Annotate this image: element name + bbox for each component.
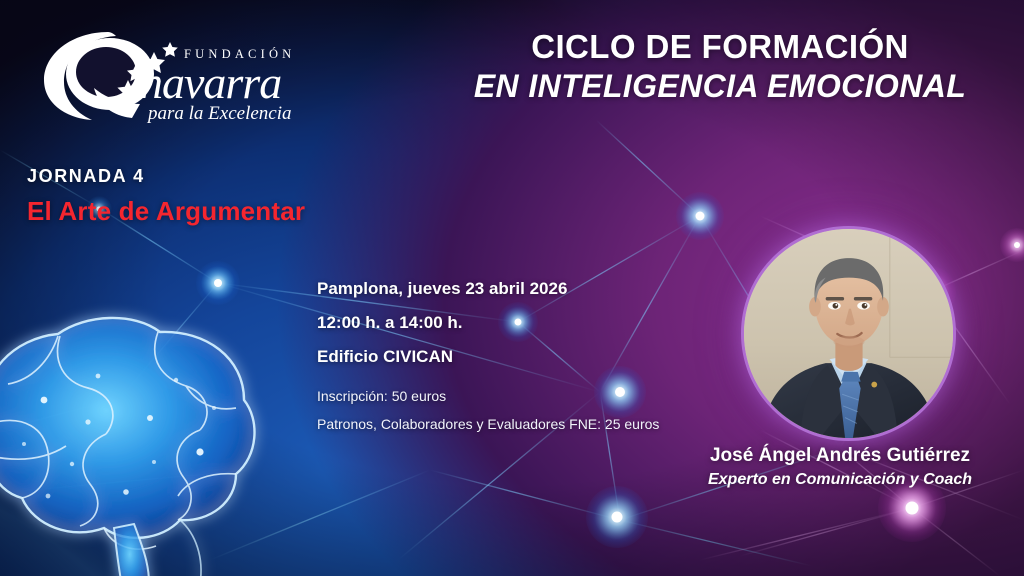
fee-line: Patronos, Colaboradores y Evaluadores FN… <box>317 417 659 431</box>
headline-line-2: EN INTELIGENCIA EMOCIONAL <box>430 67 1010 106</box>
fee-line: Inscripción: 50 euros <box>317 389 659 403</box>
logo-fundacion-navarra: FUNDACIÓN navarra para la Excelencia <box>36 26 298 126</box>
network-node-magenta <box>1000 228 1024 262</box>
speaker-role: Experto en Comunicación y Coach <box>660 470 1020 491</box>
registration-fees: Inscripción: 50 euros Patronos, Colabora… <box>317 389 659 431</box>
brain-icon <box>0 296 278 576</box>
session-kicker: JORNADA 4 <box>27 166 305 187</box>
event-poster: FUNDACIÓN navarra para la Excelencia CIC… <box>0 0 1024 576</box>
event-details: Pamplona, jueves 23 abril 2026 12:00 h. … <box>317 280 567 365</box>
speaker-name: José Ángel Andrés Gutiérrez <box>660 444 1020 468</box>
event-detail-line: Edificio CIVICAN <box>317 348 567 365</box>
speaker-portrait <box>741 226 956 441</box>
network-node-cyan <box>586 486 648 548</box>
event-detail-line: Pamplona, jueves 23 abril 2026 <box>317 280 567 297</box>
headline: CICLO DE FORMACIÓN EN INTELIGENCIA EMOCI… <box>430 28 1010 106</box>
network-node-cyan <box>196 261 240 305</box>
headline-line-1: CICLO DE FORMACIÓN <box>430 28 1010 67</box>
svg-text:navarra: navarra <box>140 57 281 108</box>
svg-text:para la Excelencia: para la Excelencia <box>146 103 292 124</box>
session-block: JORNADA 4 El Arte de Argumentar <box>27 166 305 227</box>
session-topic: El Arte de Argumentar <box>27 196 305 227</box>
event-detail-line: 12:00 h. a 14:00 h. <box>317 314 567 331</box>
network-node-cyan <box>676 192 724 240</box>
speaker-info: José Ángel Andrés Gutiérrez Experto en C… <box>660 444 1020 491</box>
